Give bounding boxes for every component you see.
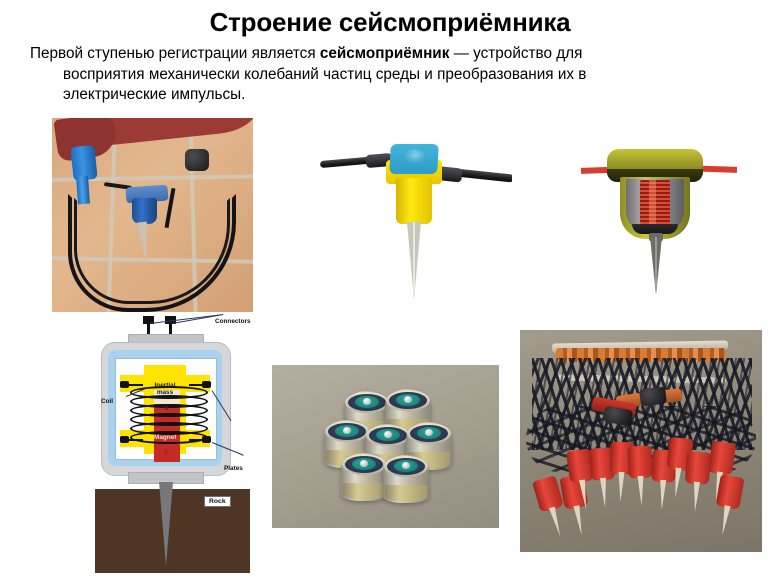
body-keyword: сейсмоприёмник bbox=[320, 45, 450, 62]
diagram-label-magnet: Magnet bbox=[154, 434, 176, 441]
geophone-yellow-body bbox=[396, 178, 432, 224]
element-screw bbox=[425, 429, 433, 436]
element-body bbox=[385, 485, 427, 502]
photo-geophone-array-on-sand bbox=[520, 330, 762, 552]
diagram-plate-terminal bbox=[120, 436, 129, 443]
element-body bbox=[343, 483, 385, 500]
photo-cutaway-geophone bbox=[573, 125, 753, 300]
diagram-label-rock: Rock bbox=[204, 496, 231, 507]
diagram-plate-lead bbox=[129, 439, 143, 441]
body-paragraph: Первой ступенью регистрации является сей… bbox=[30, 44, 752, 106]
element-screw bbox=[384, 431, 392, 438]
photo-yellow-geophone bbox=[318, 130, 512, 308]
element-screw bbox=[402, 462, 410, 469]
black-connector bbox=[639, 386, 667, 406]
geophone-element bbox=[383, 455, 429, 503]
diagram-plate-lead bbox=[189, 384, 203, 386]
red-geophone bbox=[708, 440, 736, 475]
page-title: Строение сейсмоприёмника bbox=[0, 6, 780, 38]
diagram-plate-terminal bbox=[120, 381, 129, 388]
photo-blue-geophone bbox=[52, 118, 253, 312]
body-line3: электрические импульсы. bbox=[30, 85, 752, 106]
cutaway-coil-highlight bbox=[649, 180, 656, 224]
red-geophone bbox=[627, 446, 652, 479]
geophone-spike-highlight bbox=[413, 222, 415, 294]
diagram-plate-lead bbox=[189, 439, 203, 441]
diagram-label-connectors: Connectors bbox=[215, 318, 251, 325]
diagram-plate-lead bbox=[129, 384, 143, 386]
diagram-label-pole-s: S bbox=[164, 450, 168, 457]
body-line1-before: Первой ступенью регистрации является bbox=[30, 45, 320, 62]
body-line2: восприятия механически колебаний частиц … bbox=[30, 65, 752, 86]
photo-geophone-elements bbox=[272, 365, 499, 528]
diagram-label-pole-n: N bbox=[164, 406, 168, 413]
element-screw bbox=[363, 398, 371, 405]
diagram-plate-terminal bbox=[202, 381, 211, 388]
cutaway-spike-highlight bbox=[655, 237, 657, 289]
element-screw bbox=[360, 460, 368, 467]
element-screw bbox=[404, 396, 412, 403]
diagram-label-coil: Coil bbox=[101, 398, 113, 405]
geophone-cap-hole bbox=[404, 149, 426, 163]
black-connector-knob bbox=[185, 149, 209, 171]
element-screw bbox=[343, 427, 351, 434]
diagram-label-plates: Plates bbox=[224, 465, 243, 472]
red-geophone bbox=[715, 474, 744, 510]
diagram-label-inertial-mass: Inertial mass bbox=[148, 382, 182, 397]
geophone-element bbox=[341, 453, 387, 501]
diagram-geophone-cross-section: Connectors Inertial mass Coil Magnet N S… bbox=[86, 318, 268, 576]
body-line1-after: — устройство для bbox=[449, 45, 582, 62]
red-geophone bbox=[685, 451, 711, 485]
diagram-plate-terminal bbox=[202, 436, 211, 443]
geophone-body bbox=[132, 198, 157, 224]
diagram-spike bbox=[159, 482, 173, 566]
